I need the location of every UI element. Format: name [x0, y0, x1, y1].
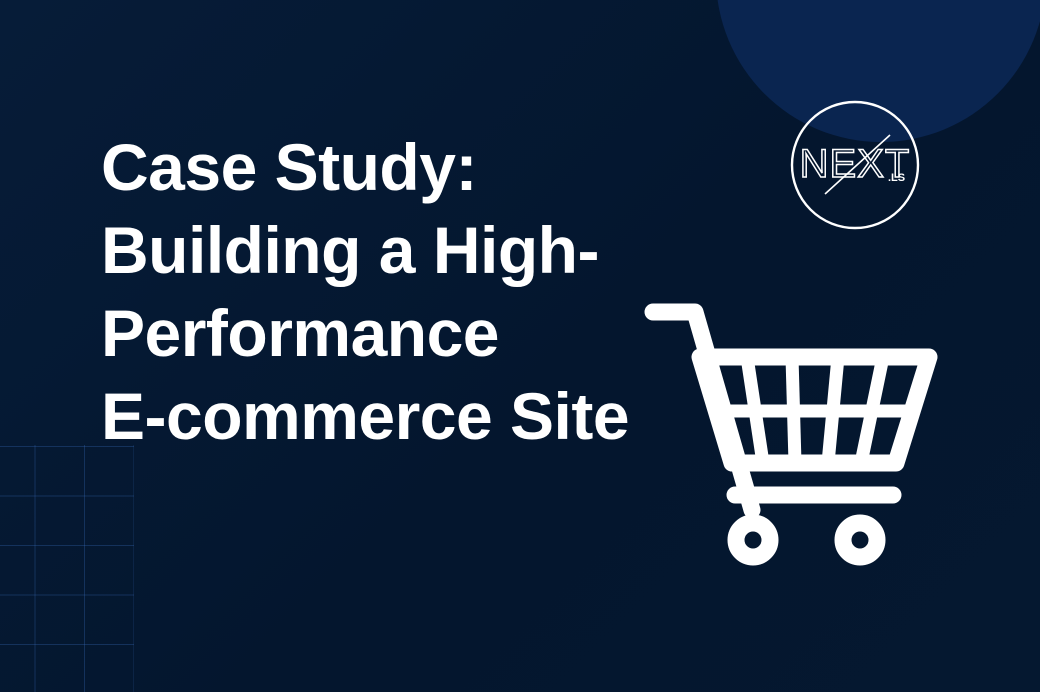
- shopping-cart-icon: [640, 295, 940, 575]
- shopping-cart-svg: [640, 295, 940, 575]
- cart-wheel-right: [843, 523, 877, 557]
- page-title: Case Study: Building a High- Performance…: [101, 126, 701, 458]
- next-ls-logo: NEXT .LS: [789, 99, 921, 231]
- cart-wheel-left: [736, 523, 770, 557]
- slide-canvas: Case Study: Building a High- Performance…: [0, 0, 1040, 692]
- cart-wheels: [736, 523, 877, 557]
- decorative-grid-pattern: [0, 445, 134, 692]
- logo-svg: NEXT .LS: [789, 99, 921, 231]
- logo-suffix: .LS: [888, 172, 905, 184]
